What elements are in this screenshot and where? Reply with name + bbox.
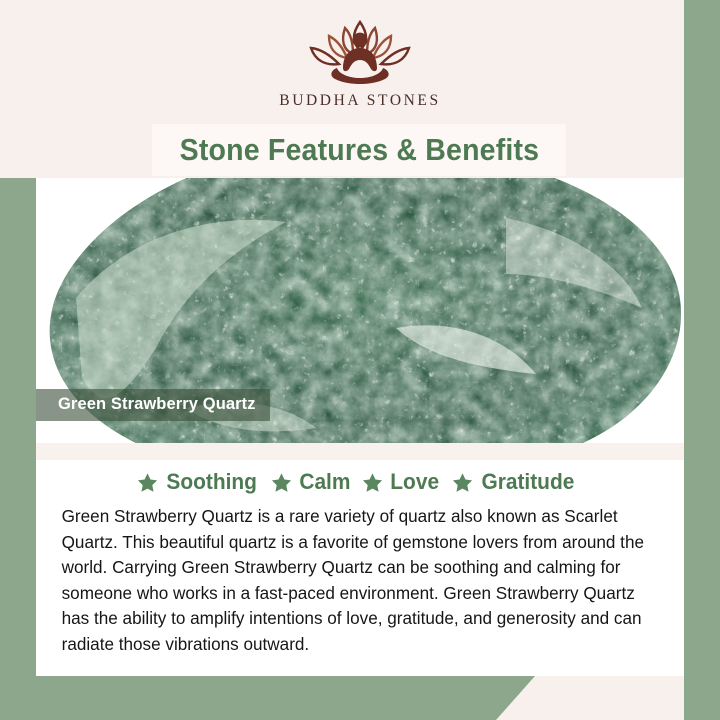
lotus-meditation-icon — [285, 14, 435, 86]
star-icon — [137, 472, 158, 493]
benefit-item: Calm — [271, 469, 352, 495]
content-panel: Soothing Calm Love Gratitude G — [36, 460, 684, 676]
infographic-poster: BUDDHA STONES Stone Features & Benefits — [0, 0, 720, 720]
benefit-item: Gratitude — [452, 469, 577, 495]
benefit-label: Calm — [299, 469, 350, 495]
description-text: Green Strawberry Quartz is a rare variet… — [36, 504, 668, 657]
page-title: Stone Features & Benefits — [179, 132, 539, 168]
title-banner: Stone Features & Benefits — [152, 124, 566, 176]
benefit-label: Gratitude — [481, 469, 574, 495]
photo-caption: Green Strawberry Quartz — [36, 389, 270, 421]
photo-bottom-strip — [36, 443, 684, 460]
stone-photo: Green Strawberry Quartz — [36, 178, 684, 443]
star-icon — [452, 472, 473, 493]
frame-band-left — [0, 178, 36, 720]
benefits-list: Soothing Calm Love Gratitude — [36, 469, 678, 495]
frame-band-right — [684, 0, 720, 720]
benefit-item: Soothing — [137, 469, 259, 495]
brand-logo: BUDDHA STONES — [36, 14, 684, 110]
brand-name: BUDDHA STONES — [279, 92, 440, 110]
star-icon — [271, 472, 292, 493]
star-icon — [362, 472, 383, 493]
benefit-label: Love — [391, 469, 440, 495]
benefit-label: Soothing — [167, 469, 258, 495]
frame-band-bottom — [0, 676, 720, 720]
benefit-item: Love — [362, 469, 440, 495]
